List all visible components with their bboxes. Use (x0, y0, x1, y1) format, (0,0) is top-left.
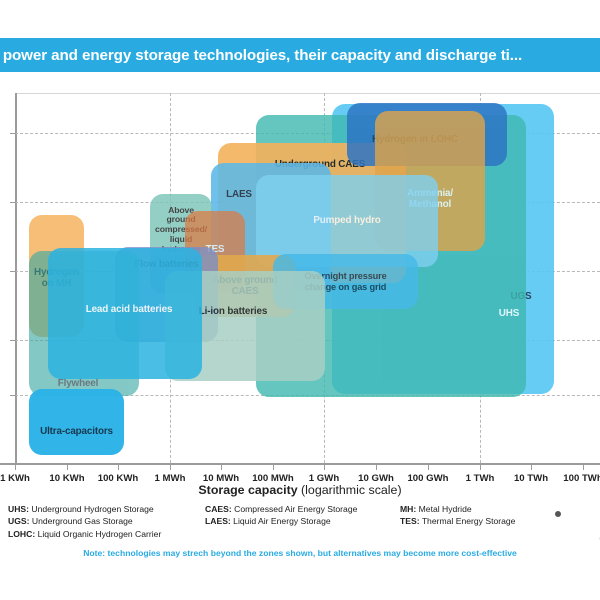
key-abbr: MH: (400, 504, 416, 514)
zone-label: UHS (496, 308, 522, 319)
y-axis-tick (10, 133, 16, 134)
key-abbr: CAES: (205, 504, 232, 514)
x-axis-tick (273, 463, 274, 470)
key-item: LAES: Liquid Air Energy Storage (205, 515, 357, 527)
key-abbr: LAES: (205, 516, 231, 526)
x-axis-tick (324, 463, 325, 470)
x-axis-tick (170, 463, 171, 470)
zone-label: Pumped hydro (310, 215, 383, 226)
y-axis-tick (10, 271, 16, 272)
y-axis-tick (10, 395, 16, 396)
key-item: UHS: Underground Hydrogen Storage (8, 503, 161, 515)
x-axis-tick (376, 463, 377, 470)
zone-label: Li-ion batteries (196, 306, 270, 317)
zone-label: LAES (223, 189, 255, 200)
key-item: MH: Metal Hydride (400, 503, 515, 515)
x-axis-tick (428, 463, 429, 470)
zone-ultra-capacitors[interactable]: Ultra-capacitors (29, 389, 124, 455)
abbreviation-key-column-2: CAES: Compressed Air Energy Storage LAES… (205, 503, 357, 528)
key-full: Underground Gas Storage (32, 516, 133, 526)
x-axis-line (0, 463, 600, 465)
y-axis-tick (10, 340, 16, 341)
x-axis-tick (15, 463, 16, 470)
plot-top-rule (15, 93, 600, 94)
key-abbr: TES: (400, 516, 420, 526)
abbreviation-key-column-3: MH: Metal Hydride TES: Thermal Energy St… (400, 503, 515, 528)
x-axis-tick (67, 463, 68, 470)
key-full: Compressed Air Energy Storage (234, 504, 357, 514)
key-full: Liquid Organic Hydrogen Carrier (38, 529, 162, 539)
plot-area: h k y e d UGS UHS Underground CAES Hydro… (15, 93, 600, 463)
x-axis-tick (480, 463, 481, 470)
x-axis-tick (118, 463, 119, 470)
zone-label: Ultra-capacitors (37, 426, 116, 437)
y-axis-tick (10, 202, 16, 203)
key-abbr: UHS: (8, 504, 29, 514)
x-axis-title-light: (logarithmic scale) (301, 483, 402, 497)
key-item: CAES: Compressed Air Energy Storage (205, 503, 357, 515)
zone-lead-acid-batteries[interactable]: Lead acid batteries (48, 248, 202, 379)
key-item: TES: Thermal Energy Storage (400, 515, 515, 527)
key-full: Metal Hydride (419, 504, 472, 514)
x-axis-tick (583, 463, 584, 470)
key-full: Thermal Energy Storage (422, 516, 516, 526)
chart-title-banner: ...vable power and energy storage techno… (0, 38, 600, 72)
y-axis-line (15, 93, 17, 463)
key-item: LOHC: Liquid Organic Hydrogen Carrier (8, 528, 161, 540)
key-full: Underground Hydrogen Storage (31, 504, 153, 514)
x-axis-title: Storage capacity (logarithmic scale) (0, 483, 600, 497)
zone-label: Flywheel (55, 378, 102, 389)
key-abbr: UGS: (8, 516, 29, 526)
footnote: Note: technologies may strech beyond the… (0, 548, 600, 558)
zone-label: Lead acid batteries (83, 304, 176, 315)
x-axis-tick (531, 463, 532, 470)
key-full: Liquid Air Energy Storage (233, 516, 330, 526)
key-abbr: LOHC: (8, 529, 35, 539)
page-title: ...vable power and energy storage techno… (0, 47, 522, 64)
x-axis-tick (221, 463, 222, 470)
x-axis-title-bold: Storage capacity (198, 483, 297, 497)
abbreviation-key-column-1: UHS: Underground Hydrogen Storage UGS: U… (8, 503, 161, 540)
key-item: UGS: Underground Gas Storage (8, 515, 161, 527)
bullet-dot-icon (555, 511, 561, 517)
infographic-page: ...vable power and energy storage techno… (0, 0, 600, 600)
